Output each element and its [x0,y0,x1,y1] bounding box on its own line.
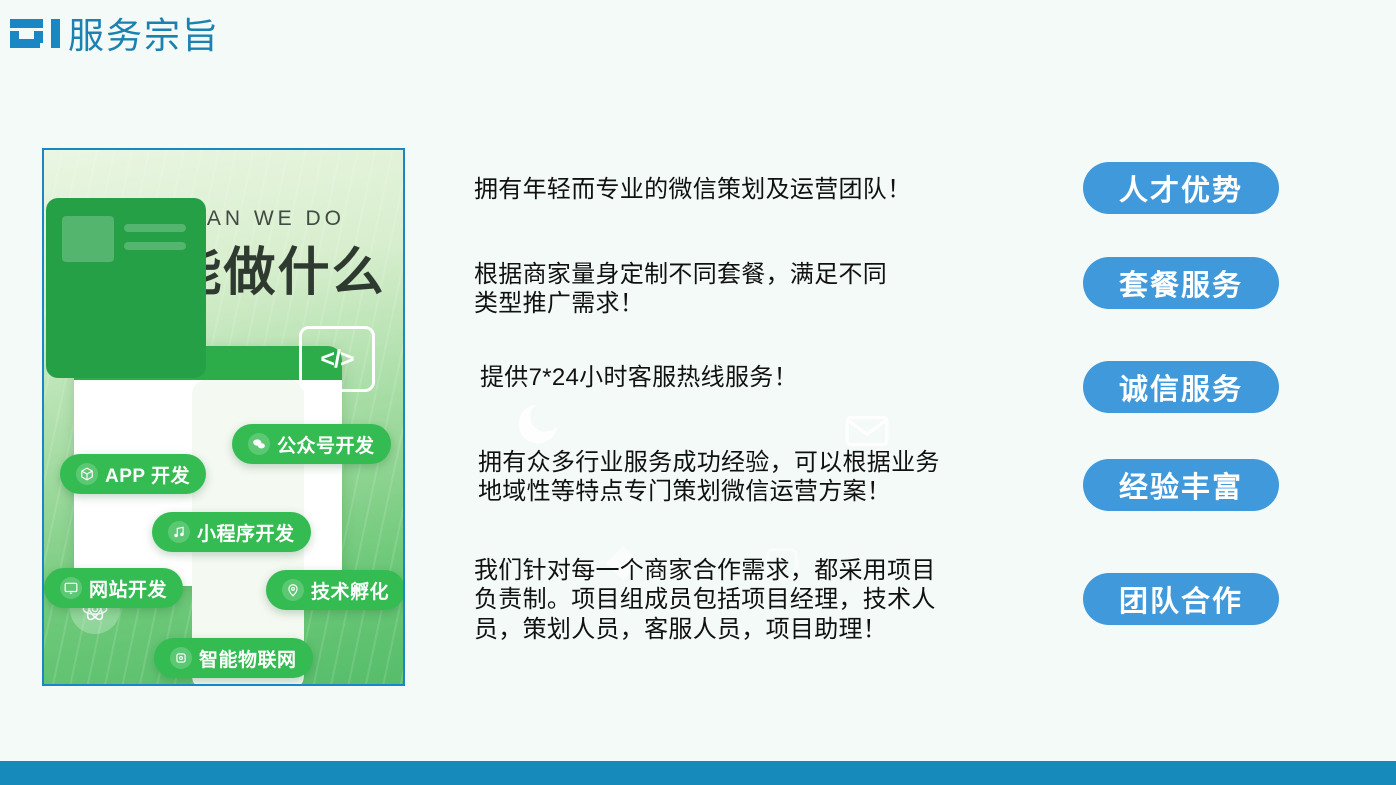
tag-website-development[interactable]: 网站开发 [44,568,183,608]
tag-label: 网站开发 [89,575,167,602]
crescent-moon-icon [512,398,564,450]
paragraph-line: 根据商家量身定制不同套餐，满足不同 [474,260,887,289]
badge-talent-advantage[interactable]: 人才优势 [1083,162,1279,214]
poster-card[interactable]: WHAT CAN WE DO 我们能做什么 </> 公众号开发 A [42,148,405,686]
51-logo-icon [10,17,62,57]
paragraph-line: 拥有年轻而专业的微信策划及运营团队！ [474,175,911,204]
tag-smart-iot[interactable]: 智能物联网 [154,638,313,678]
paragraph-experience: 拥有众多行业服务成功经验，可以根据业务 地域性等特点专门策划微信运营方案！ [478,448,940,507]
tag-label: 智能物联网 [199,645,297,672]
paragraph-line: 提供7*24小时客服热线服务！ [480,363,798,392]
chat-bubbles-icon [248,433,270,455]
green-content-card [46,198,206,378]
tag-label: 公众号开发 [277,431,375,458]
placeholder-line [124,242,186,250]
badge-package-service[interactable]: 套餐服务 [1083,257,1279,309]
paragraph-line: 类型推广需求！ [474,289,887,318]
paragraph-hotline: 提供7*24小时客服热线服务！ [480,363,798,392]
cube-icon [76,463,98,485]
paragraph-line: 我们针对每一个商家合作需求，都采用项目 [474,556,936,585]
music-note-icon [168,521,190,543]
iot-chip-icon [170,647,192,669]
paragraph-packages: 根据商家量身定制不同套餐，满足不同 类型推广需求！ [474,260,887,319]
paragraph-talent: 拥有年轻而专业的微信策划及运营团队！ [474,175,911,204]
monitor-code-icon [60,577,82,599]
placeholder-line [124,224,186,232]
paragraph-line: 负责制。项目组成员包括项目经理，技术人 [474,585,936,614]
location-pin-icon [282,579,304,601]
placeholder-block [62,216,114,262]
paragraph-line: 拥有众多行业服务成功经验，可以根据业务 [478,448,940,477]
footer-bar [0,761,1396,785]
tag-tech-incubation[interactable]: 技术孵化 [266,570,405,610]
paragraph-line: 员，策划人员，客服人员，项目助理！ [474,615,936,644]
tag-mini-program[interactable]: 小程序开发 [152,512,311,552]
page-title: 服务宗旨 [68,13,220,59]
tag-app-development[interactable]: APP 开发 [60,454,206,494]
paragraph-line: 地域性等特点专门策划微信运营方案！ [478,477,940,506]
tag-label: 技术孵化 [311,577,389,604]
tag-label: APP 开发 [105,461,190,488]
paragraph-teamwork: 我们针对每一个商家合作需求，都采用项目 负责制。项目组成员包括项目经理，技术人 … [474,556,936,644]
badge-integrity-service[interactable]: 诚信服务 [1083,361,1279,413]
badge-team-collaboration[interactable]: 团队合作 [1083,573,1279,625]
tag-label: 小程序开发 [197,519,295,546]
badge-rich-experience[interactable]: 经验丰富 [1083,459,1279,511]
page-header: 服务宗旨 [0,0,1396,78]
tag-official-account[interactable]: 公众号开发 [232,424,391,464]
code-brackets-icon: </> [299,326,375,392]
